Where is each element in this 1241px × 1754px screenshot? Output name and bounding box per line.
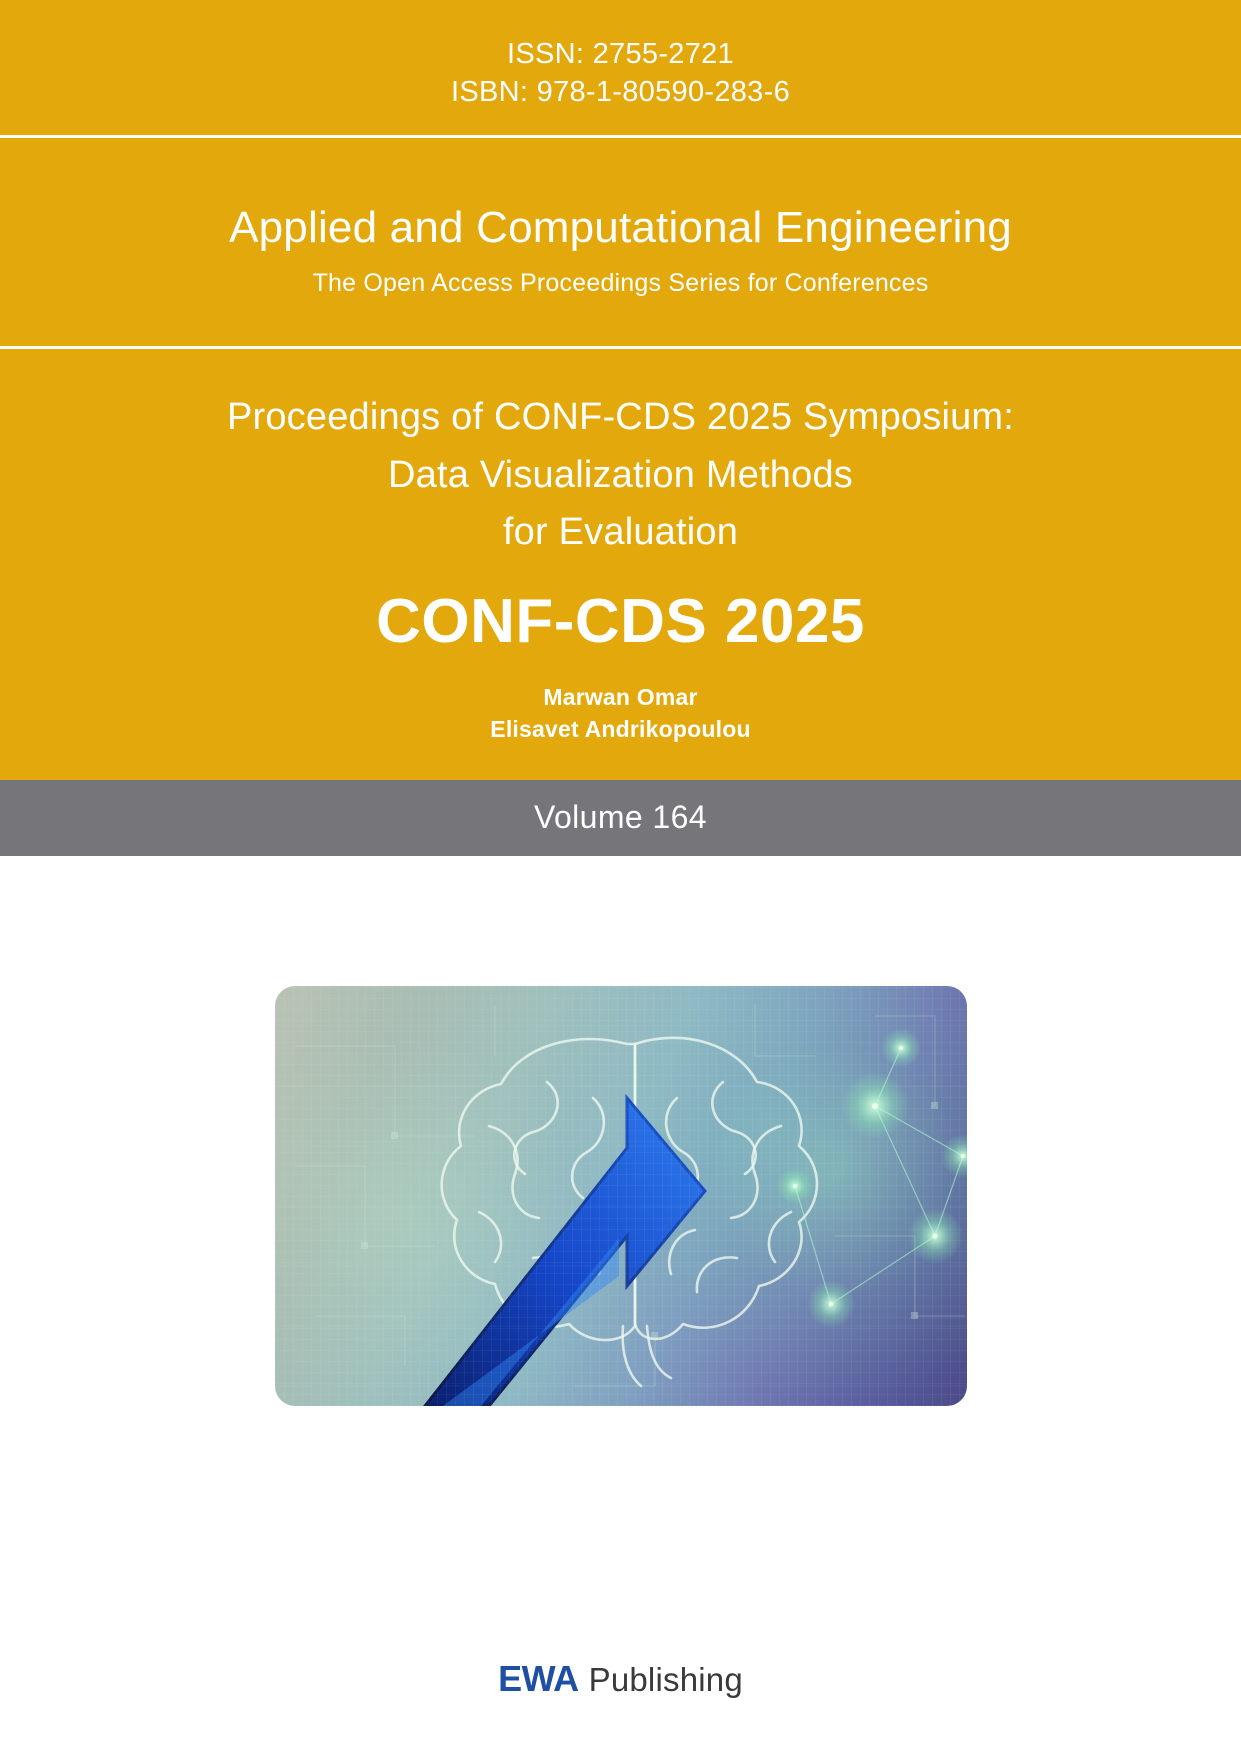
proceedings-band: Proceedings of CONF-CDS 2025 Symposium: …: [0, 349, 1241, 780]
issn-text: ISSN: 2755-2721: [0, 36, 1241, 74]
series-subtitle: The Open Access Proceedings Series for C…: [0, 269, 1241, 298]
proceedings-title-line-1: Proceedings of CONF-CDS 2025 Symposium:: [0, 389, 1241, 447]
proceedings-title-line-3: for Evaluation: [0, 504, 1241, 562]
isbn-text: ISBN: 978-1-80590-283-6: [0, 74, 1241, 112]
publisher-logo: EWA Publishing: [498, 1658, 743, 1700]
publisher-mark: EWA: [498, 1658, 579, 1700]
editor-list: Marwan Omar Elisavet Andrikopoulou: [0, 682, 1241, 745]
editor-name: Elisavet Andrikopoulou: [0, 714, 1241, 746]
series-band: Applied and Computational Engineering Th…: [0, 138, 1241, 345]
identifier-band: ISSN: 2755-2721 ISBN: 978-1-80590-283-6: [0, 0, 1241, 135]
cover-artwork-area: [0, 856, 1241, 1604]
editor-name: Marwan Omar: [0, 682, 1241, 714]
publisher-area: EWA Publishing: [0, 1604, 1241, 1754]
proceedings-title-line-2: Data Visualization Methods: [0, 447, 1241, 505]
publisher-word: Publishing: [589, 1661, 743, 1699]
volume-label: Volume 164: [534, 799, 707, 836]
artwork-texture: [275, 986, 967, 1406]
volume-bar: Volume 164: [0, 780, 1241, 856]
series-title: Applied and Computational Engineering: [0, 204, 1241, 252]
cover-illustration: [275, 986, 967, 1406]
conference-acronym: CONF-CDS 2025: [0, 588, 1241, 656]
book-cover: ISSN: 2755-2721 ISBN: 978-1-80590-283-6 …: [0, 0, 1241, 1754]
